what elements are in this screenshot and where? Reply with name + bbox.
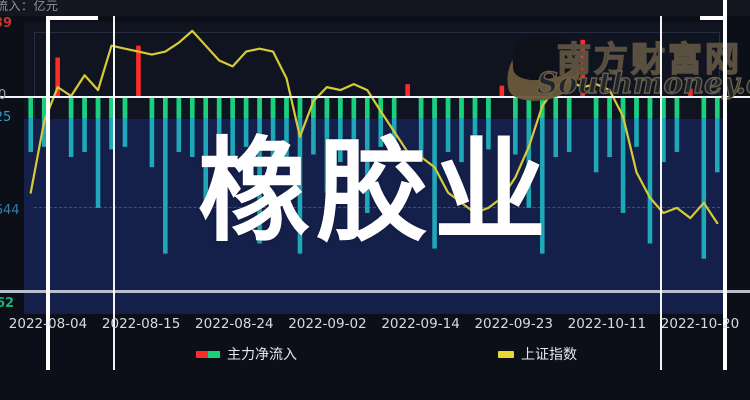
- x-axis-tick-label: 2022-10-11: [568, 316, 646, 332]
- x-axis-tick-label: 2022-09-02: [288, 316, 366, 332]
- bars-layer: [28, 40, 719, 259]
- index-line-path: [31, 31, 718, 223]
- y-axis-label-bottom: 62: [0, 296, 14, 311]
- frame-top-right-corner: [700, 16, 727, 20]
- bar-upper-segment: [217, 96, 222, 118]
- bar: [648, 96, 653, 243]
- chart-legend: 主力净流入 上证指数: [0, 344, 750, 370]
- bar-upper-segment: [123, 96, 128, 118]
- legend-swatch-net-inflow: [196, 351, 220, 358]
- bar-upper-segment: [419, 96, 424, 118]
- bar-upper-segment: [648, 96, 653, 118]
- bar-upper-segment: [190, 96, 195, 118]
- bottom-filler: [0, 370, 750, 400]
- x-axis-tick-label: 2022-09-23: [474, 316, 552, 332]
- y-axis-label-max: 39: [0, 16, 12, 31]
- bar-upper-segment: [82, 96, 87, 118]
- bar: [405, 84, 410, 96]
- bar: [540, 96, 545, 254]
- bar-upper-segment: [163, 96, 168, 118]
- bar-upper-segment: [230, 96, 235, 118]
- bar-upper-segment: [473, 96, 478, 118]
- bar-upper-segment: [325, 96, 330, 118]
- bar-upper-segment: [634, 96, 639, 118]
- bar: [702, 96, 707, 259]
- x-axis-tick-label: 2022-08-24: [195, 316, 273, 332]
- bar-upper-segment: [28, 96, 33, 118]
- x-axis-tick-label: 2022-09-14: [381, 316, 459, 332]
- x-axis-tick-label: 2022-08-04: [9, 316, 87, 332]
- bar-upper-segment: [96, 96, 101, 118]
- bar-upper-segment: [567, 96, 572, 118]
- bar-upper-segment: [446, 96, 451, 118]
- bar-upper-segment: [284, 96, 289, 118]
- bar-upper-segment: [150, 96, 155, 118]
- bar: [257, 96, 262, 243]
- chart-canvas: [24, 22, 724, 314]
- bar-upper-segment: [715, 96, 720, 118]
- legend-item-net-inflow[interactable]: 主力净流入: [196, 344, 297, 364]
- x-axis-tick-label: 2022-08-15: [102, 316, 180, 332]
- bar-upper-segment: [675, 96, 680, 118]
- bar: [298, 96, 303, 254]
- bar-upper-segment: [702, 96, 707, 118]
- y-axis-label-neg-644: -644: [0, 203, 20, 218]
- bar-upper-segment: [244, 96, 249, 118]
- bar-upper-segment: [607, 96, 612, 118]
- legend-label-index: 上证指数: [521, 344, 577, 364]
- bar-upper-segment: [594, 96, 599, 118]
- bar: [500, 86, 505, 96]
- bar-upper-segment: [338, 96, 343, 118]
- screenshot-root: 流入：亿元 南方财富网 Southmoney.com 39 0 -25 -644…: [0, 0, 750, 400]
- legend-label-net-inflow: 主力净流入: [227, 344, 297, 364]
- header-strip: 流入：亿元: [0, 0, 750, 16]
- x-axis-tick-label: 2022-10-20: [661, 316, 739, 332]
- bar-upper-segment: [203, 96, 208, 118]
- frame-top-left-corner: [46, 16, 98, 20]
- bar-upper-segment: [392, 96, 397, 118]
- legend-item-index[interactable]: 上证指数: [498, 344, 577, 364]
- y-axis-label-neg-25: -25: [0, 110, 11, 125]
- bar-upper-segment: [177, 96, 182, 118]
- bar-upper-segment: [298, 96, 303, 118]
- bar-upper-segment: [553, 96, 558, 118]
- x-axis-labels: 2022-08-042022-08-152022-08-242022-09-02…: [0, 316, 750, 338]
- bar-upper-segment: [352, 96, 357, 118]
- bar-upper-segment: [365, 96, 370, 118]
- bar-upper-segment: [486, 96, 491, 118]
- bar-upper-segment: [257, 96, 262, 118]
- y-axis-label-zero: 0: [0, 88, 6, 103]
- bar: [688, 89, 693, 96]
- legend-swatch-index: [498, 351, 514, 358]
- bar-upper-segment: [527, 96, 532, 118]
- bar-upper-segment: [432, 96, 437, 118]
- bar-upper-segment: [69, 96, 74, 118]
- bar-upper-segment: [271, 96, 276, 118]
- bar-upper-segment: [459, 96, 464, 118]
- bar: [163, 96, 168, 254]
- bar-upper-segment: [513, 96, 518, 118]
- y-axis-unit-label: 流入：亿元: [0, 0, 59, 14]
- bar: [136, 46, 141, 96]
